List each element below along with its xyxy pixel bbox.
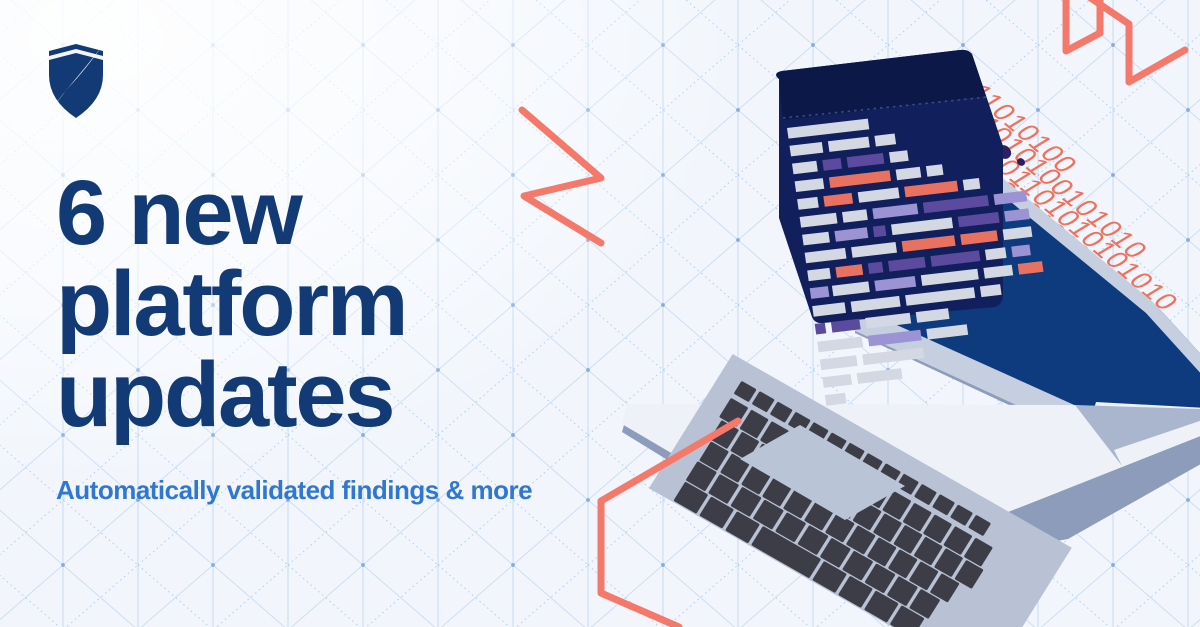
page-subtitle: Automatically validated findings & more — [56, 475, 532, 506]
page-title: 6 new platform updates — [56, 168, 532, 441]
copy-block: 6 new platform updates Automatically val… — [56, 168, 532, 506]
promo-banner: 0101101010001010101001010100101011010101… — [0, 0, 1200, 627]
shield-logo — [45, 42, 107, 120]
